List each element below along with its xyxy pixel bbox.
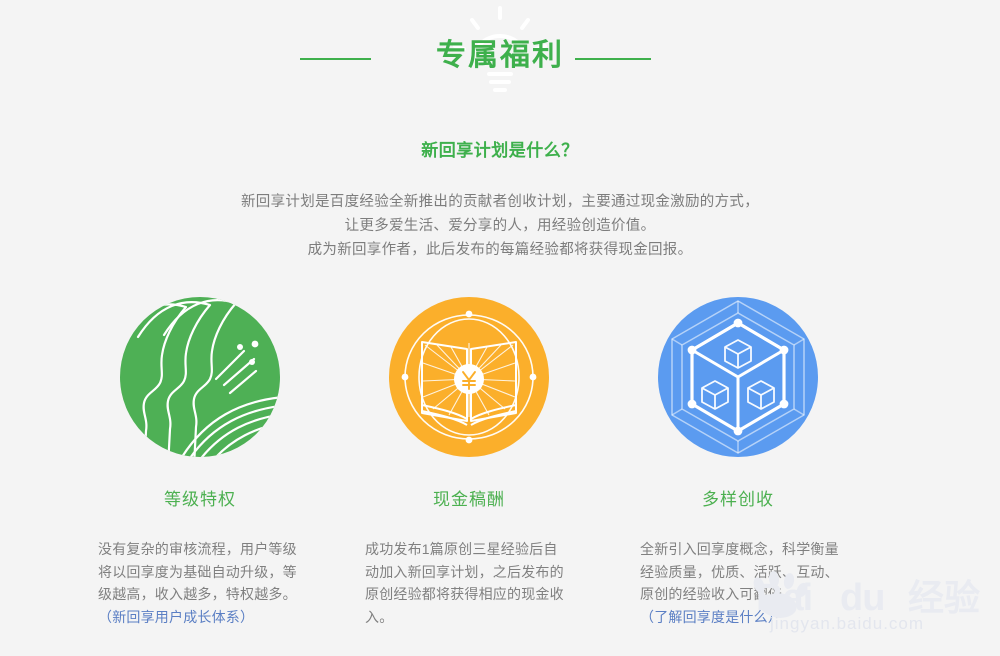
intro-line: 新回享计划是百度经验全新推出的贡献者创收计划，主要通过现金激励的方式， — [0, 190, 1000, 214]
card-title: 多样创收 — [598, 488, 878, 512]
card-title: 现金稿酬 — [329, 488, 609, 512]
card-description: 全新引入回享度概念，科学衡量经验质量，优质、活跃、互动、原创的经验收入可翻倍。 — [640, 538, 845, 606]
intro-heading: 新回享计划是什么？ — [0, 138, 1000, 164]
level-privilege-people-icon — [120, 297, 280, 457]
benefit-card: 等级特权 没有复杂的审核流程，用户等级将以回享度为基础自动升级，等级越高，收入越… — [60, 290, 340, 628]
cash-payment-book-yuan-icon — [389, 297, 549, 457]
intro-section: 新回享计划是什么？ 新回享计划是百度经验全新推出的贡献者创收计划，主要通过现金激… — [0, 138, 1000, 262]
page-root: 专属福利 新回享计划是什么？ 新回享计划是百度经验全新推出的贡献者创收计划，主要… — [0, 0, 1000, 656]
card-link-what-is-huixiang[interactable]: （了解回享度是什么） — [640, 606, 782, 629]
card-body: 没有复杂的审核流程，用户等级将以回享度为基础自动升级，等级越高，收入越多，特权越… — [60, 538, 340, 628]
card-description: 成功发布1篇原创三星经验后自动加入新回享计划，之后发布的原创经验都将获得相应的现… — [365, 538, 570, 628]
card-link-growth-system[interactable]: （新回享用户成长体系） — [98, 606, 254, 629]
benefit-card: 现金稿酬 成功发布1篇原创三星经验后自动加入新回享计划，之后发布的原创经验都将获… — [329, 290, 609, 628]
page-header: 专属福利 — [0, 0, 1000, 110]
card-body: 全新引入回享度概念，科学衡量经验质量，优质、活跃、互动、原创的经验收入可翻倍。 … — [598, 538, 878, 628]
intro-body: 新回享计划是百度经验全新推出的贡献者创收计划，主要通过现金激励的方式， 让更多爱… — [0, 190, 1000, 262]
card-body: 成功发布1篇原创三星经验后自动加入新回享计划，之后发布的原创经验都将获得相应的现… — [329, 538, 609, 628]
benefit-cards: 等级特权 没有复杂的审核流程，用户等级将以回享度为基础自动升级，等级越高，收入越… — [0, 290, 1000, 640]
page-title: 专属福利 — [0, 34, 1000, 78]
card-title: 等级特权 — [60, 488, 340, 512]
intro-line: 成为新回享作者，此后发布的每篇经验都将获得现金回报。 — [0, 238, 1000, 262]
benefit-card: 多样创收 全新引入回享度概念，科学衡量经验质量，优质、活跃、互动、原创的经验收入… — [598, 290, 878, 628]
intro-line: 让更多爱生活、爱分享的人，用经验创造价值。 — [0, 214, 1000, 238]
diverse-income-cube-icon — [658, 297, 818, 457]
card-description: 没有复杂的审核流程，用户等级将以回享度为基础自动升级，等级越高，收入越多，特权越… — [98, 538, 303, 606]
